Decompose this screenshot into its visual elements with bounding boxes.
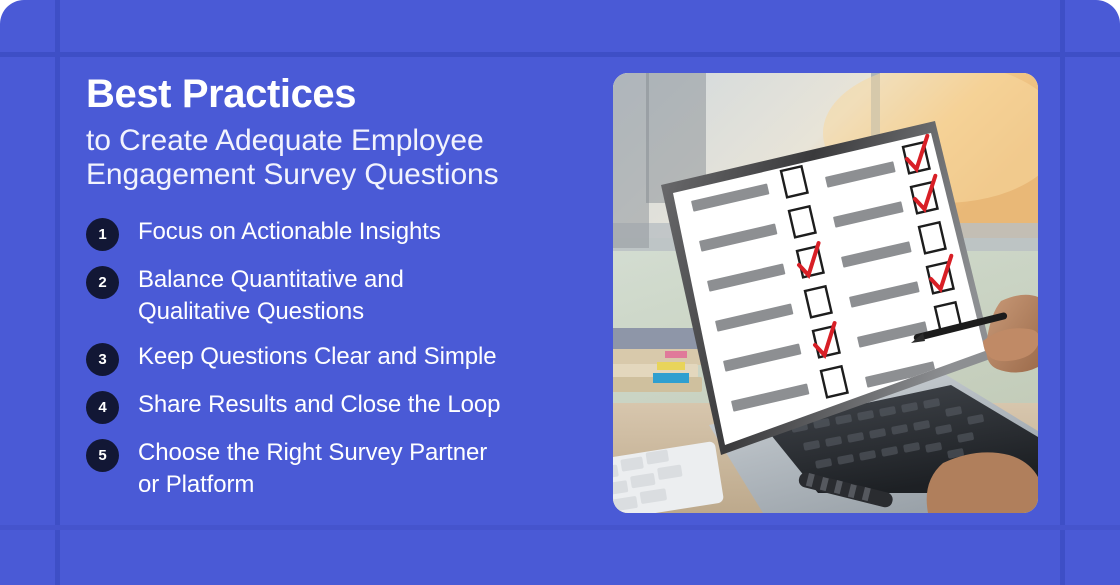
laptop-photo-illustration (613, 73, 1038, 513)
list-number-badge: 5 (86, 439, 119, 472)
list-item-line-2: or Platform (138, 469, 487, 501)
list-item-line-1: Focus on Actionable Insights (138, 216, 441, 248)
list-item-line-1: Balance Quantitative and (138, 264, 404, 296)
list-item-text: Share Results and Close the Loop (138, 389, 500, 421)
list-item-line-1: Keep Questions Clear and Simple (138, 341, 496, 373)
best-practices-list: 1 Focus on Actionable Insights 2 Balance… (86, 216, 606, 514)
grid-line-vertical-right (1060, 0, 1065, 585)
subtitle-line-2: Engagement Survey Questions (86, 158, 586, 192)
list-item-text: Focus on Actionable Insights (138, 216, 441, 248)
list-item-line-1: Share Results and Close the Loop (138, 389, 500, 421)
book-stack (613, 328, 704, 392)
headline-block: Best Practices to Create Adequate Employ… (86, 74, 586, 192)
list-number-badge: 2 (86, 266, 119, 299)
page-title: Best Practices (86, 74, 586, 114)
list-number-badge: 4 (86, 391, 119, 424)
grid-line-horizontal-bottom (0, 525, 1120, 530)
list-item: 1 Focus on Actionable Insights (86, 216, 606, 251)
list-item: 2 Balance Quantitative and Qualitative Q… (86, 264, 606, 328)
list-number-badge: 1 (86, 218, 119, 251)
page-subtitle: to Create Adequate Employee Engagement S… (86, 124, 586, 192)
list-item-line-1: Choose the Right Survey Partner (138, 437, 487, 469)
blue-card-background: Best Practices to Create Adequate Employ… (0, 0, 1120, 585)
list-item-text: Balance Quantitative and Qualitative Que… (138, 264, 404, 328)
list-item-text: Choose the Right Survey Partner or Platf… (138, 437, 487, 501)
window-side-frame (613, 73, 649, 248)
grid-line-vertical-left (55, 0, 60, 585)
list-item: 3 Keep Questions Clear and Simple (86, 341, 606, 376)
subtitle-line-1: to Create Adequate Employee (86, 124, 586, 158)
infographic-canvas: Best Practices to Create Adequate Employ… (0, 0, 1120, 585)
list-item: 4 Share Results and Close the Loop (86, 389, 606, 424)
laptop-survey-photo (613, 73, 1038, 513)
list-number-badge: 3 (86, 343, 119, 376)
list-item: 5 Choose the Right Survey Partner or Pla… (86, 437, 606, 501)
grid-line-horizontal-top (0, 52, 1120, 57)
list-item-text: Keep Questions Clear and Simple (138, 341, 496, 373)
list-item-line-2: Qualitative Questions (138, 296, 404, 328)
